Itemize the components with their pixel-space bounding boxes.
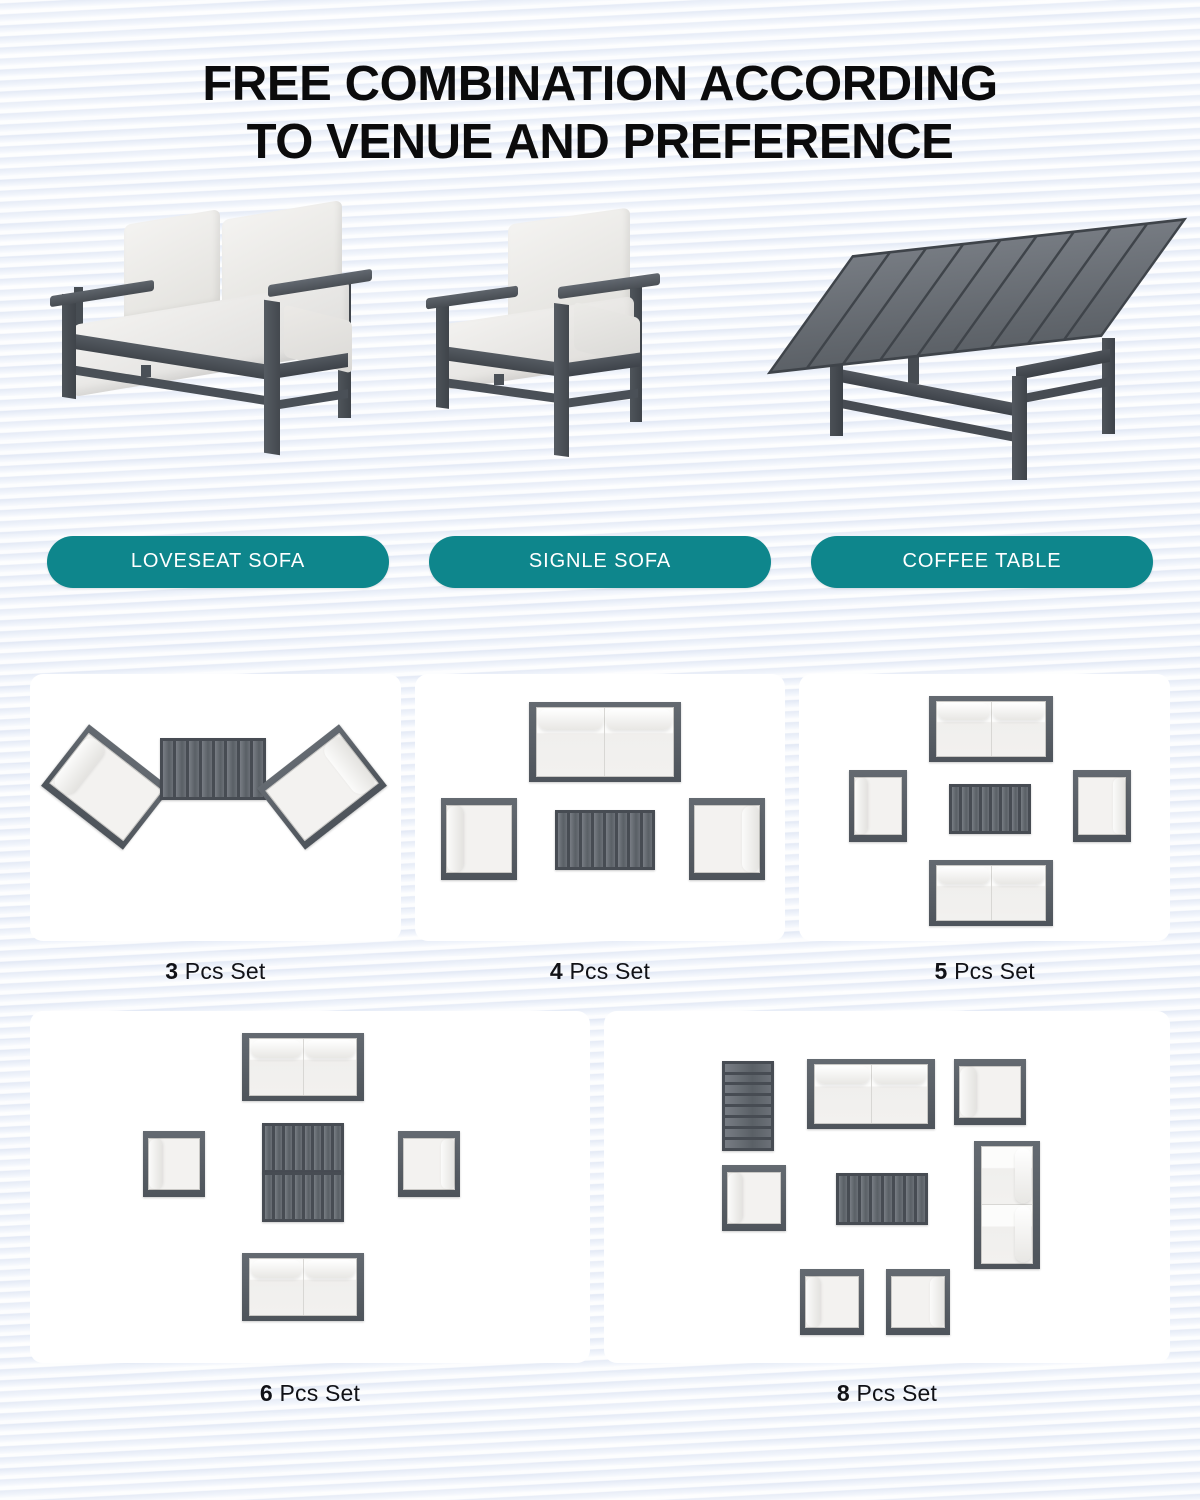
caption-label-8: Pcs Set — [850, 1380, 937, 1406]
caption-set-6: 6 Pcs Set — [30, 1380, 590, 1407]
combination-set-8: 8 Pcs Set — [604, 1011, 1170, 1407]
loveseat-center-foot — [141, 365, 151, 377]
combination-set-6: 6 Pcs Set — [30, 1011, 590, 1407]
loveseat-front-right-leg — [264, 299, 280, 455]
layout-coffee-table-rotated — [722, 1061, 774, 1151]
coffee-table-illustration — [816, 230, 1146, 480]
caption-count-4: 4 — [550, 958, 563, 984]
table-side-stretcher — [1018, 377, 1110, 404]
layout-single-sofa-mid-left — [722, 1165, 786, 1231]
single-sofa-illustration — [422, 214, 684, 494]
combination-set-3: 3 Pcs Set — [30, 674, 401, 985]
caption-count-8: 8 — [837, 1380, 850, 1406]
caption-label-4: Pcs Set — [563, 958, 650, 984]
caption-label-6: Pcs Set — [273, 1380, 360, 1406]
product-label-loveseat-sofa[interactable]: LOVESEAT SOFA — [47, 536, 389, 588]
layout-coffee-table-center — [555, 810, 655, 870]
combination-set-5: 5 Pcs Set — [799, 674, 1170, 985]
chair-center-foot — [494, 374, 504, 385]
product-label-row: LOVESEAT SOFA SIGNLE SOFA COFFEE TABLE — [0, 536, 1200, 588]
caption-label-5: Pcs Set — [948, 958, 1035, 984]
chair-side-stretcher — [562, 388, 638, 408]
combination-grid: 3 Pcs Set — [0, 674, 1200, 1407]
page-title: FREE COMBINATION ACCORDING TO VENUE AND … — [0, 0, 1200, 172]
layout-loveseat-top — [529, 702, 681, 782]
table-side-rail — [1016, 348, 1110, 379]
chair-front-left-leg — [436, 297, 449, 409]
layout-single-sofa-right — [257, 724, 387, 849]
layout-loveseat-top — [242, 1033, 364, 1101]
loveseat-front-left-leg — [62, 294, 76, 399]
layout-single-sofa-left — [41, 724, 171, 849]
combination-card-4[interactable] — [415, 674, 786, 941]
loveseat-side-stretcher — [274, 389, 348, 410]
combination-card-3[interactable] — [30, 674, 401, 941]
product-image-loveseat-sofa — [0, 184, 400, 494]
layout-single-sofa-left — [849, 770, 907, 842]
layout-single-sofa-right — [689, 798, 765, 880]
layout-single-sofa-bottom-left — [800, 1269, 864, 1335]
caption-set-5: 5 Pcs Set — [799, 958, 1170, 985]
product-label-coffee-table[interactable]: COFFEE TABLE — [811, 536, 1153, 588]
layout-loveseat-right-vertical — [974, 1141, 1040, 1269]
combination-set-4: 4 Pcs Set — [415, 674, 786, 985]
page-title-line-1: FREE COMBINATION ACCORDING — [202, 57, 997, 111]
layout-coffee-table-center — [836, 1173, 928, 1225]
loveseat-sofa-illustration — [46, 209, 386, 494]
page-title-line-2: TO VENUE AND PREFERENCE — [0, 114, 1200, 172]
layout-single-sofa-top-right — [954, 1059, 1026, 1125]
table-front-right-leg — [1012, 376, 1027, 480]
chair-left-armrest — [426, 285, 518, 309]
combination-row-1: 3 Pcs Set — [30, 674, 1170, 985]
caption-set-8: 8 Pcs Set — [604, 1380, 1170, 1407]
caption-count-5: 5 — [935, 958, 948, 984]
combination-card-5[interactable] — [799, 674, 1170, 941]
layout-single-sofa-right — [1073, 770, 1131, 842]
layout-coffee-table-upper — [262, 1123, 344, 1173]
layout-loveseat-top — [807, 1059, 935, 1129]
chair-front-right-leg — [554, 303, 569, 457]
layout-loveseat-bottom — [929, 860, 1053, 926]
combination-card-6[interactable] — [30, 1011, 590, 1363]
caption-label-3: Pcs Set — [178, 958, 265, 984]
product-image-single-sofa — [400, 184, 800, 494]
combination-row-2: 6 Pcs Set — [30, 1011, 1170, 1407]
table-slatted-top — [767, 217, 1187, 373]
product-label-single-sofa[interactable]: SIGNLE SOFA — [429, 536, 771, 588]
caption-count-3: 3 — [165, 958, 178, 984]
combination-card-8[interactable] — [604, 1011, 1170, 1363]
hero-product-row — [0, 184, 1200, 494]
layout-loveseat-top — [929, 696, 1053, 762]
caption-count-6: 6 — [260, 1380, 273, 1406]
product-image-coffee-table — [800, 184, 1200, 494]
layout-coffee-table-lower — [262, 1172, 344, 1222]
layout-coffee-table-center — [949, 784, 1031, 834]
layout-loveseat-bottom — [242, 1253, 364, 1321]
layout-coffee-table-center — [160, 738, 266, 800]
infographic-page: FREE COMBINATION ACCORDING TO VENUE AND … — [0, 0, 1200, 1500]
caption-set-3: 3 Pcs Set — [30, 958, 401, 985]
layout-single-sofa-left — [143, 1131, 205, 1197]
layout-single-sofa-right — [398, 1131, 460, 1197]
caption-set-4: 4 Pcs Set — [415, 958, 786, 985]
layout-single-sofa-left — [441, 798, 517, 880]
layout-single-sofa-bottom-right — [886, 1269, 950, 1335]
